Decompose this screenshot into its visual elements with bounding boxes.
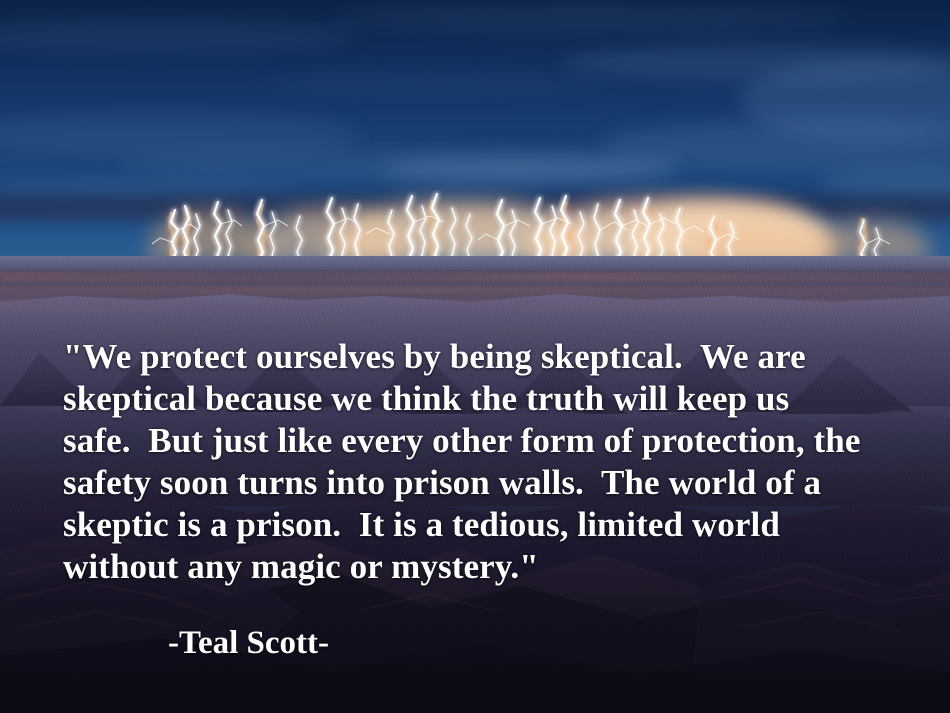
cloud-wisp — [120, 148, 680, 182]
cloud-wisp — [560, 44, 950, 82]
cloud-wisp — [0, 18, 360, 52]
lightning-bolt-group — [171, 194, 880, 260]
lightning-bolts — [0, 190, 950, 262]
quote-text: "We protect ourselves by being skeptical… — [63, 336, 893, 588]
cloud-wisp — [740, 60, 950, 140]
quote-poster: "We protect ourselves by being skeptical… — [0, 0, 950, 713]
lightning-halo-group — [170, 200, 866, 260]
quote-attribution: -Teal Scott- — [168, 624, 329, 662]
cloud-wisp — [600, 120, 950, 170]
cloud-wisp — [330, 4, 850, 32]
cloud-wisp — [380, 156, 680, 184]
cloud-wisp — [260, 74, 600, 94]
cloud-wisp — [0, 112, 360, 158]
